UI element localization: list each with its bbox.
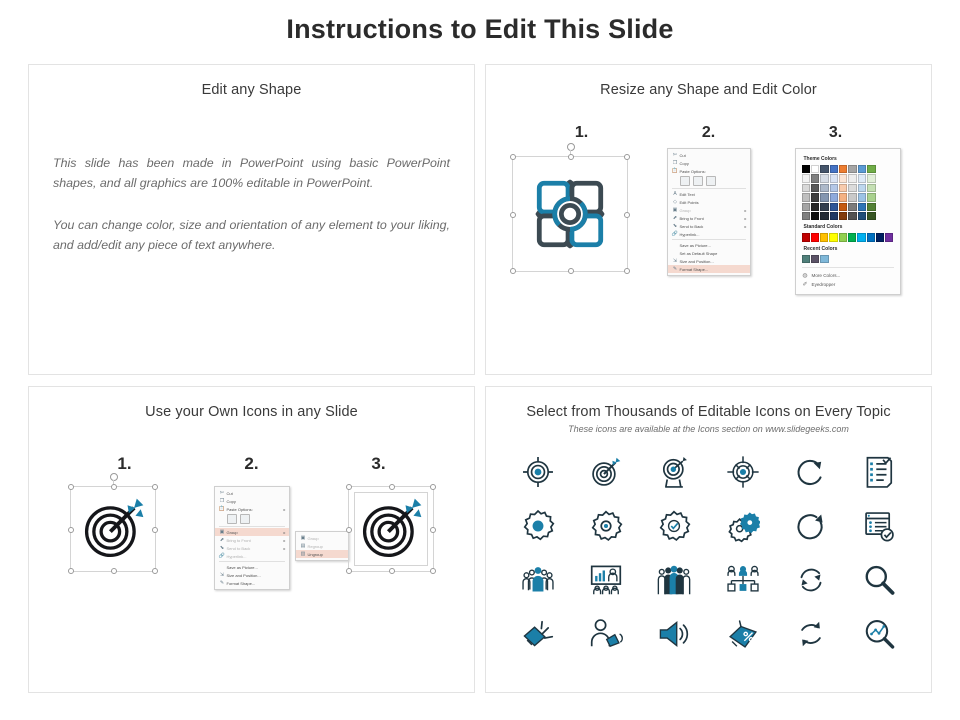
context-menu-item[interactable]: 📋 Paste Options: [668, 167, 750, 175]
color-swatch[interactable] [830, 212, 838, 220]
rotate-handle[interactable] [567, 143, 575, 151]
gear-check-icon [657, 509, 691, 543]
eyedropper-item[interactable]: ✐ Eyedropper [802, 280, 894, 289]
gallery-cell[interactable] [777, 502, 845, 550]
target-stand-icon [657, 455, 691, 489]
color-swatch[interactable] [820, 184, 828, 192]
context-menu-item-label: Group [680, 208, 745, 213]
resize-handle-middle-left[interactable] [510, 212, 516, 218]
paste-icon: 📋 [671, 168, 680, 175]
paste-picture-icon[interactable] [693, 176, 703, 186]
color-swatch[interactable] [848, 184, 856, 192]
context-menu-item-label: Copy [227, 499, 286, 504]
context-menu-item-label: Send to Back [680, 224, 745, 229]
person-megaphone-icon [589, 617, 623, 651]
selection-frame [70, 486, 156, 572]
document-check-icon [862, 509, 896, 543]
context-menu-item-label: Bring to Front [680, 216, 745, 221]
color-swatch[interactable] [820, 233, 828, 241]
resize-handle-bottom-right[interactable] [152, 568, 158, 574]
color-swatch[interactable] [802, 184, 810, 192]
resize-handle-middle-right[interactable] [624, 212, 630, 218]
resize-handle-top-center[interactable] [568, 154, 574, 160]
gallery-cell[interactable] [504, 556, 572, 604]
color-swatch[interactable] [848, 212, 856, 220]
color-swatch[interactable] [867, 233, 875, 241]
resize-handle-bottom-left[interactable] [510, 268, 516, 274]
edit-points-icon: ◇ [671, 199, 680, 206]
gallery-cell[interactable] [640, 610, 708, 658]
menu-divider [802, 267, 894, 268]
context-menu-item-group[interactable]: ▣ Group ▸ [215, 528, 289, 536]
menu-divider [672, 239, 746, 240]
color-swatch[interactable] [802, 174, 810, 182]
sync-arrows-icon [794, 563, 828, 597]
color-swatch[interactable] [858, 184, 866, 192]
circular-arrow-icon [794, 509, 828, 543]
refresh-arrow-icon [794, 455, 828, 489]
gallery-cell[interactable] [845, 502, 913, 550]
chevron-right-icon: ▸ [283, 507, 285, 512]
context-menu-item-label: Edit Points [680, 200, 747, 205]
paste-option-buttons[interactable] [668, 175, 750, 187]
color-swatch[interactable] [839, 193, 847, 201]
resize-handle-bottom-left[interactable] [68, 568, 74, 574]
resize-handle-bottom-left[interactable] [346, 568, 352, 574]
recent-colors-row[interactable] [802, 255, 894, 263]
resize-handle-bottom-center[interactable] [389, 568, 395, 574]
regroup-icon: ▤ [299, 543, 308, 550]
color-swatch[interactable] [811, 184, 819, 192]
color-swatch[interactable] [848, 165, 856, 173]
shape-context-menu[interactable]: ✄ Cut ❐ Copy 📋 Paste Options: [667, 148, 751, 276]
resize-handle-middle-left[interactable] [346, 527, 352, 533]
context-menu-item[interactable]: ⬊ Send to Back ▸ [215, 544, 289, 552]
gear-filled-icon [521, 509, 555, 543]
context-menu-item[interactable]: ⇲ Size and Position... [668, 257, 750, 265]
edit-shape-paragraph-1: This slide has been made in PowerPoint u… [53, 153, 450, 193]
color-swatch[interactable] [811, 212, 819, 220]
resize-handle-middle-right[interactable] [152, 527, 158, 533]
sub-selection-frame [354, 492, 428, 566]
rotate-arrows-icon [794, 617, 828, 651]
people-group-icon [521, 563, 555, 597]
color-swatch[interactable] [811, 233, 819, 241]
gallery-cell[interactable] [777, 448, 845, 496]
crosshair-target-icon [521, 455, 555, 489]
team-standing-icon [657, 563, 691, 597]
color-swatch[interactable] [802, 255, 810, 263]
own-icons-step-2-shot: ✄ Cut ❐ Copy 📋 Paste Options: ▸ [184, 486, 320, 590]
context-menu-item[interactable]: ⬈ Bring to Front ▸ [215, 536, 289, 544]
copy-icon: ❐ [671, 160, 680, 167]
submenu-item-label: Ungroup [308, 552, 345, 557]
chevron-right-icon: ▸ [744, 208, 746, 213]
resize-step-3-shot: Theme Colors Standard Colors Recent Colo… [780, 148, 916, 295]
color-swatch[interactable] [830, 203, 838, 211]
recent-colors-heading: Recent Colors [804, 246, 894, 252]
gallery-cell[interactable] [504, 610, 572, 658]
color-swatch[interactable] [829, 233, 837, 241]
own-icons-step-number-2: 2. [207, 454, 297, 474]
color-swatch[interactable] [811, 203, 819, 211]
bring-front-icon: ⬈ [671, 215, 680, 222]
edit-shape-paragraph-2: You can change color, size and orientati… [53, 215, 450, 255]
resize-step-1-shot [502, 148, 638, 272]
color-swatch[interactable] [848, 233, 856, 241]
context-menu-item[interactable]: ❐ Copy [215, 497, 289, 505]
megaphone-icon [521, 617, 555, 651]
context-menu-item[interactable]: ✎ Format Shape... [215, 579, 289, 587]
context-menu-item-label: Hyperlink... [227, 554, 286, 559]
submenu-item-ungroup[interactable]: ▥ Ungroup [296, 550, 348, 558]
color-swatch[interactable] [811, 255, 819, 263]
context-menu-item[interactable]: 🔗 Hyperlink... [215, 552, 289, 560]
more-colors-label: More Colors... [812, 273, 841, 278]
context-menu-item-label: Copy [680, 161, 747, 166]
group-icon: ▣ [218, 529, 227, 536]
panel-own-icons: Use your Own Icons in any Slide 1. 2. 3. [28, 386, 475, 693]
panel-icon-library-subtitle: These icons are available at the Icons s… [486, 424, 931, 434]
paste-text-only-icon[interactable] [706, 176, 716, 186]
menu-divider [672, 188, 746, 189]
context-menu-item[interactable]: ✄ Cut [215, 489, 289, 497]
color-swatch[interactable] [867, 212, 875, 220]
color-swatch[interactable] [858, 203, 866, 211]
context-menu-item-label: Cut [680, 153, 747, 158]
gallery-cell[interactable] [845, 610, 913, 658]
color-swatch[interactable] [867, 184, 875, 192]
color-swatch[interactable] [867, 203, 875, 211]
gallery-cell[interactable] [777, 556, 845, 604]
color-swatch[interactable] [839, 203, 847, 211]
standard-colors-heading: Standard Colors [804, 224, 894, 230]
standard-colors-row[interactable] [802, 233, 894, 241]
gallery-cell[interactable] [572, 502, 640, 550]
scissors-icon: ✄ [218, 490, 227, 497]
color-swatch[interactable] [858, 174, 866, 182]
resize-handle-top-left[interactable] [346, 484, 352, 490]
page-title: Instructions to Edit This Slide [0, 14, 960, 45]
shape-selection-box[interactable] [512, 156, 628, 272]
context-menu-item[interactable]: ◇ Edit Points [668, 198, 750, 206]
gallery-cell[interactable] [572, 556, 640, 604]
size-position-icon: ⇲ [218, 572, 227, 579]
double-gear-icon [726, 509, 760, 543]
scope-target-icon [726, 455, 760, 489]
panel-icon-library: Select from Thousands of Editable Icons … [485, 386, 932, 693]
context-menu-item[interactable]: ⇲ Size and Position... [215, 571, 289, 579]
gear-outline-icon [589, 509, 623, 543]
magnifier-icon [862, 563, 896, 597]
color-swatch[interactable] [858, 165, 866, 173]
context-menu-item-label: Save as Picture... [680, 243, 747, 248]
menu-divider [219, 526, 285, 527]
color-swatch[interactable] [839, 212, 847, 220]
group-submenu[interactable]: ▣ Group ▤ Regroup ▥ Ungroup [295, 531, 349, 561]
resize-handle-bottom-center[interactable] [568, 268, 574, 274]
context-menu-item-label: Send to Back [227, 546, 284, 551]
resize-screenshots: ✄ Cut ❐ Copy 📋 Paste Options: [486, 148, 931, 295]
eyedropper-icon: ✐ [802, 281, 809, 288]
gallery-cell[interactable] [708, 502, 776, 550]
gallery-cell[interactable] [708, 448, 776, 496]
context-menu-item-label: Paste Options: [227, 507, 284, 512]
color-swatch[interactable] [820, 255, 828, 263]
size-position-icon: ⇲ [671, 258, 680, 265]
paste-option-buttons[interactable] [215, 513, 289, 525]
icon-gallery [504, 448, 913, 658]
resize-handle-top-right[interactable] [430, 484, 436, 490]
color-swatch[interactable] [848, 174, 856, 182]
color-swatch[interactable] [885, 233, 893, 241]
panel-edit-shape-title: Edit any Shape [29, 82, 474, 98]
context-menu-item[interactable]: Save as Picture... [215, 563, 289, 571]
gallery-cell[interactable] [640, 556, 708, 604]
context-menu-item-label: Cut [227, 491, 286, 496]
color-swatch[interactable] [867, 165, 875, 173]
color-swatch[interactable] [820, 193, 828, 201]
context-menu-item[interactable]: Save as Picture... [668, 241, 750, 249]
color-swatch[interactable] [876, 233, 884, 241]
gallery-cell[interactable] [777, 610, 845, 658]
color-swatch[interactable] [802, 203, 810, 211]
icon-context-menu[interactable]: ✄ Cut ❐ Copy 📋 Paste Options: ▸ [214, 486, 290, 590]
panel-icon-library-title: Select from Thousands of Editable Icons … [486, 404, 931, 420]
color-swatch[interactable] [858, 212, 866, 220]
theme-colors-grid[interactable] [802, 165, 894, 220]
panel-grid: Edit any Shape This slide has been made … [28, 64, 932, 693]
resize-handle-top-right[interactable] [152, 484, 158, 490]
own-icons-screenshots: ✄ Cut ❐ Copy 📋 Paste Options: ▸ [29, 486, 474, 590]
gallery-cell[interactable] [640, 502, 708, 550]
color-picker-panel[interactable]: Theme Colors Standard Colors Recent Colo… [795, 148, 901, 295]
resize-step-2-shot: ✄ Cut ❐ Copy 📋 Paste Options: [641, 148, 777, 276]
eyedropper-label: Eyedropper [812, 282, 836, 287]
checklist-document-icon [862, 455, 896, 489]
context-menu-item[interactable]: 🔗 Hyperlink... [668, 230, 750, 238]
context-menu-item-label: Size and Position... [680, 259, 747, 264]
resize-step-number-2: 2. [664, 124, 754, 142]
context-menu-item[interactable]: A Edit Text [668, 190, 750, 198]
resize-handle-bottom-right[interactable] [624, 268, 630, 274]
color-swatch[interactable] [858, 193, 866, 201]
gallery-cell[interactable] [708, 556, 776, 604]
menu-divider [219, 561, 285, 562]
color-swatch[interactable] [820, 165, 828, 173]
theme-colors-heading: Theme Colors [804, 156, 894, 162]
format-shape-icon: ✎ [671, 266, 680, 273]
ungrouped-icon-box[interactable] [348, 486, 434, 572]
rotate-handle[interactable] [110, 473, 118, 481]
resize-handle-middle-right[interactable] [430, 527, 436, 533]
more-colors-item[interactable]: ◍ More Colors... [802, 271, 894, 280]
context-menu-item-label: Bring to Front [227, 538, 284, 543]
chevron-right-icon: ▸ [283, 546, 285, 551]
resize-handle-middle-left[interactable] [68, 527, 74, 533]
color-swatch[interactable] [848, 203, 856, 211]
icon-selection-box[interactable] [70, 486, 156, 572]
resize-handle-top-left[interactable] [68, 484, 74, 490]
edit-text-icon: A [671, 191, 680, 198]
resize-handle-bottom-right[interactable] [430, 568, 436, 574]
submenu-item-label: Group [308, 536, 345, 541]
color-swatch[interactable] [811, 174, 819, 182]
context-menu-item[interactable]: 📋 Paste Options: ▸ [215, 505, 289, 513]
paste-keep-source-icon[interactable] [227, 514, 237, 524]
scissors-icon: ✄ [671, 152, 680, 159]
panel-edit-shape: Edit any Shape This slide has been made … [28, 64, 475, 375]
gallery-cell[interactable] [504, 502, 572, 550]
resize-handle-top-right[interactable] [624, 154, 630, 160]
context-menu-item[interactable]: ▣ Group ▸ [668, 206, 750, 214]
context-menu-item[interactable]: ❐ Copy [668, 159, 750, 167]
resize-handle-top-center[interactable] [389, 484, 395, 490]
panel-own-icons-title: Use your Own Icons in any Slide [29, 404, 474, 420]
submenu-item-regroup[interactable]: ▤ Regroup [296, 542, 348, 550]
color-swatch[interactable] [811, 165, 819, 173]
bring-front-icon: ⬈ [218, 537, 227, 544]
own-icons-step-1-shot [45, 486, 181, 572]
context-menu-item-label: Format Shape... [680, 267, 747, 272]
context-menu-item-label: Format Shape... [227, 581, 286, 586]
context-menu-item-label: Hyperlink... [680, 232, 747, 237]
context-menu-item-label: Group [227, 530, 284, 535]
context-menu-item[interactable]: ⬊ Send to Back ▸ [668, 222, 750, 230]
color-swatch[interactable] [839, 174, 847, 182]
context-menu-item-label: Save as Picture... [227, 565, 286, 570]
color-swatch[interactable] [820, 174, 828, 182]
format-shape-icon: ✎ [218, 580, 227, 587]
color-swatch[interactable] [802, 212, 810, 220]
context-menu-item-label: Edit Text [680, 192, 747, 197]
hyperlink-icon: 🔗 [218, 553, 227, 560]
context-menu-item[interactable]: ⬈ Bring to Front ▸ [668, 214, 750, 222]
gallery-cell[interactable] [845, 448, 913, 496]
send-back-icon: ⬊ [218, 545, 227, 552]
own-icons-step-number-3: 3. [334, 454, 424, 474]
group-icon: ▣ [671, 207, 680, 214]
chevron-right-icon: ▸ [283, 530, 285, 535]
color-swatch[interactable] [867, 174, 875, 182]
resize-step-number-1: 1. [537, 124, 627, 142]
color-swatch[interactable] [820, 212, 828, 220]
color-swatch[interactable] [830, 174, 838, 182]
blank-icon [671, 250, 680, 257]
submenu-item-group[interactable]: ▣ Group [296, 534, 348, 542]
chevron-right-icon: ▸ [744, 216, 746, 221]
color-swatch[interactable] [820, 203, 828, 211]
chevron-right-icon: ▸ [283, 538, 285, 543]
megaphone-percent-icon [726, 617, 760, 651]
gallery-cell[interactable] [708, 610, 776, 658]
ungroup-icon: ▥ [299, 551, 308, 558]
paste-icon: 📋 [218, 506, 227, 513]
loudspeaker-icon [657, 617, 691, 651]
color-swatch[interactable] [867, 193, 875, 201]
context-menu-item-label: Paste Options: [680, 169, 747, 174]
color-swatch[interactable] [839, 233, 847, 241]
group-icon: ▣ [299, 535, 308, 542]
submenu-item-label: Regroup [308, 544, 345, 549]
slide-canvas: Instructions to Edit This Slide Edit any… [0, 0, 960, 720]
dartboard-arrow-icon [589, 455, 623, 489]
color-swatch[interactable] [830, 184, 838, 192]
color-swatch[interactable] [848, 193, 856, 201]
panel-resize-shape: Resize any Shape and Edit Color 1. 2. 3. [485, 64, 932, 375]
presentation-meeting-icon [589, 563, 623, 597]
color-swatch[interactable] [830, 165, 838, 173]
blank-icon [671, 242, 680, 249]
gallery-cell[interactable] [640, 448, 708, 496]
gallery-cell[interactable] [504, 448, 572, 496]
context-menu-item[interactable]: ✄ Cut [668, 151, 750, 159]
context-menu-item-format-shape[interactable]: ✎ Format Shape... [668, 265, 750, 273]
color-swatch[interactable] [811, 193, 819, 201]
resize-handle-bottom-center[interactable] [111, 568, 117, 574]
send-back-icon: ⬊ [671, 223, 680, 230]
context-menu-item-label: Size and Position... [227, 573, 286, 578]
copy-icon: ❐ [218, 498, 227, 505]
own-icons-steps: 1. 2. 3. [29, 454, 474, 474]
context-menu-item[interactable]: Set as Default Shape [668, 249, 750, 257]
chevron-right-icon: ▸ [744, 224, 746, 229]
color-swatch[interactable] [839, 184, 847, 192]
panel-resize-shape-title: Resize any Shape and Edit Color [486, 82, 931, 98]
resize-handle-top-center[interactable] [111, 484, 117, 490]
resize-step-number-3: 3. [791, 124, 881, 142]
own-icons-step-number-1: 1. [80, 454, 170, 474]
context-menu-item-label: Set as Default Shape [680, 251, 747, 256]
resize-handle-top-left[interactable] [510, 154, 516, 160]
palette-icon: ◍ [802, 272, 809, 279]
color-swatch[interactable] [802, 233, 810, 241]
hyperlink-icon: 🔗 [671, 231, 680, 238]
paste-keep-source-icon[interactable] [680, 176, 690, 186]
gallery-cell[interactable] [572, 610, 640, 658]
gallery-cell[interactable] [845, 556, 913, 604]
gallery-cell[interactable] [572, 448, 640, 496]
color-swatch[interactable] [802, 193, 810, 201]
color-swatch[interactable] [839, 165, 847, 173]
resize-steps: 1. 2. 3. [486, 124, 931, 142]
magnifier-chart-icon [862, 617, 896, 651]
org-chart-team-icon [726, 563, 760, 597]
selection-frame [512, 156, 628, 272]
blank-icon [218, 564, 227, 571]
color-swatch[interactable] [802, 165, 810, 173]
paste-picture-icon[interactable] [240, 514, 250, 524]
color-swatch[interactable] [857, 233, 865, 241]
color-swatch[interactable] [830, 193, 838, 201]
